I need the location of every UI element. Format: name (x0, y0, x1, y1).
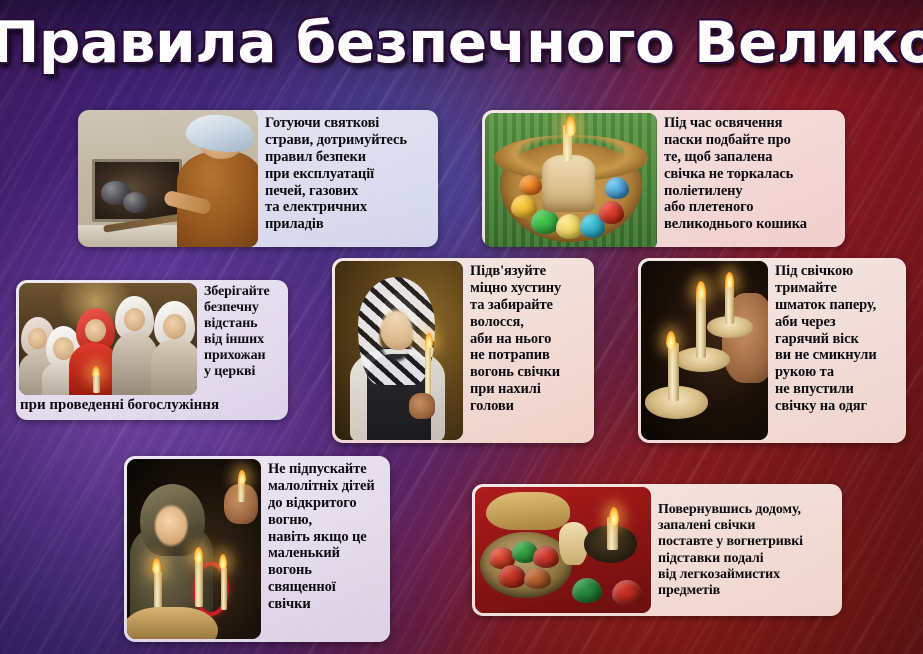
card-home-text: Повернувшись додому, запалені свічки пос… (651, 484, 842, 616)
poster-title: Правила безпечного Великодня (0, 14, 923, 74)
card-stove-safety: Готуючи святкові страви, дотримуйтесь пр… (78, 110, 438, 247)
poster-root: Правила безпечного Великодня Готуючи свя… (0, 0, 923, 654)
photo-easter-basket (485, 113, 657, 247)
photo-stove (78, 110, 258, 247)
photo-three-candles (641, 261, 768, 440)
card-basket-blessing: Під час освячення паски подбайте про те,… (482, 110, 845, 247)
card-paper-text: Під свічкою тримайте шматок паперу, аби … (768, 258, 906, 443)
card-headscarf-text: Підв'язуйте міцно хустину та забирайте в… (463, 258, 594, 443)
card-home-candles: Повернувшись додому, запалені свічки пос… (472, 484, 842, 616)
card-church-text: Зберігайте безпечну відстань від інших п… (197, 280, 288, 397)
photo-eggs-and-candle (475, 487, 651, 613)
card-church-caption: при проведенні богослужіння (16, 397, 288, 416)
card-church-distance: Зберігайте безпечну відстань від інших п… (16, 280, 288, 420)
card-stove-text: Готуючи святкові страви, дотримуйтесь пр… (258, 110, 438, 247)
card-children-text: Не підпускайте малолітніх дітей до відкр… (261, 456, 390, 642)
card-children-fire: Не підпускайте малолітніх дітей до відкр… (124, 456, 390, 642)
photo-woman-with-candle (335, 261, 463, 440)
photo-church-parishioners (19, 283, 197, 395)
card-headscarf: Підв'язуйте міцно хустину та забирайте в… (332, 258, 594, 443)
photo-child-with-candle (127, 459, 261, 639)
card-basket-text: Під час освячення паски подбайте про те,… (657, 110, 845, 247)
card-paper-under-candle: Під свічкою тримайте шматок паперу, аби … (638, 258, 906, 443)
